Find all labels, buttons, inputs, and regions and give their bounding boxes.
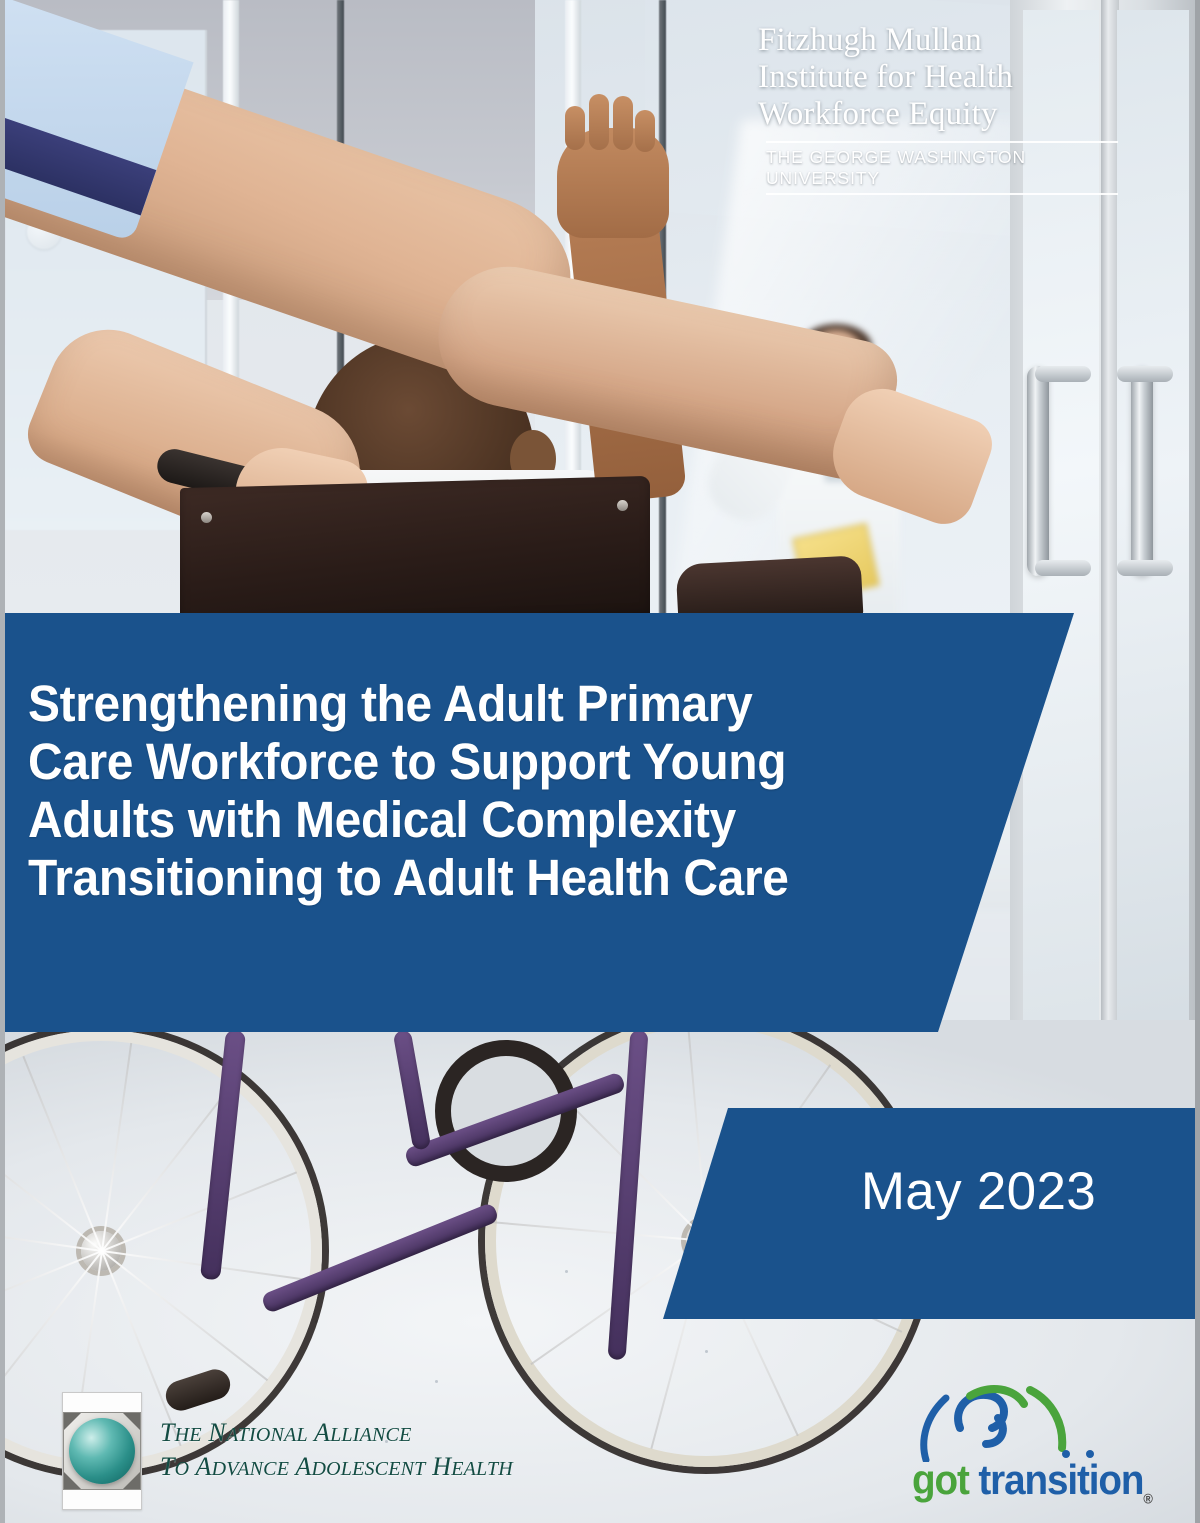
publisher-name-line-2: Institute for Health	[758, 59, 1138, 96]
finger	[589, 94, 609, 150]
university-name: THE GEORGE WASHINGTON UNIVERSITY	[766, 147, 1138, 189]
finger	[613, 96, 633, 150]
finger	[565, 106, 585, 150]
report-title-line-4: Transitioning to Adult Health Care	[28, 849, 912, 907]
publisher-name: Fitzhugh Mullan Institute for Health Wor…	[758, 22, 1138, 133]
swoosh-icon	[912, 1382, 1142, 1462]
national-alliance-wordmark: THE NATIONAL ALLIANCE TO ADVANCE ADOLESC…	[160, 1417, 513, 1485]
got-transition-logo: got transition®	[912, 1382, 1142, 1508]
door-handle-bracket	[1117, 366, 1173, 382]
young-person-waving-hand	[557, 128, 669, 238]
teal-sphere	[69, 1418, 135, 1484]
report-title: Strengthening the Adult Primary Care Wor…	[28, 675, 912, 907]
wheelchair-backrest	[180, 476, 650, 628]
backrest-stud	[201, 512, 212, 523]
title-banner: Strengthening the Adult Primary Care Wor…	[0, 613, 1080, 1033]
got-transition-wordmark: got transition®	[912, 1456, 1152, 1506]
door-handle-bracket	[1117, 560, 1173, 576]
report-title-line-1: Strengthening the Adult Primary	[28, 675, 912, 733]
door-handle	[1027, 366, 1049, 576]
door-handle-bracket	[1035, 560, 1091, 576]
got-word: got	[912, 1456, 969, 1503]
logo-bevel-frame	[63, 1412, 141, 1490]
publisher-name-line-1: Fitzhugh Mullan	[758, 22, 1138, 59]
transition-word: transition	[978, 1456, 1143, 1503]
report-title-line-2: Care Workforce to Support Young	[28, 733, 912, 791]
report-title-line-3: Adults with Medical Complexity	[28, 791, 912, 849]
alliance-line-2: TO ADVANCE ADOLESCENT HEALTH	[160, 1451, 513, 1485]
logo-divider-bottom	[766, 193, 1118, 195]
door-handle	[1131, 366, 1153, 576]
backrest-stud	[617, 500, 628, 511]
national-alliance-logo: THE NATIONAL ALLIANCE TO ADVANCE ADOLESC…	[62, 1392, 482, 1510]
door-handle-bracket	[1035, 366, 1091, 382]
report-cover-page: Fitzhugh Mullan Institute for Health Wor…	[0, 0, 1200, 1523]
registered-trademark-icon: ®	[1143, 1490, 1151, 1506]
publisher-name-line-3: Workforce Equity	[758, 96, 1138, 133]
date-banner: May 2023	[655, 1108, 1195, 1320]
logo-divider-top	[766, 141, 1118, 143]
alliance-line-1: THE NATIONAL ALLIANCE	[160, 1417, 513, 1451]
gw-institute-logo: Fitzhugh Mullan Institute for Health Wor…	[758, 22, 1138, 195]
teal-sphere-icon	[62, 1392, 142, 1510]
publication-date: May 2023	[861, 1163, 1096, 1221]
finger	[635, 110, 655, 152]
